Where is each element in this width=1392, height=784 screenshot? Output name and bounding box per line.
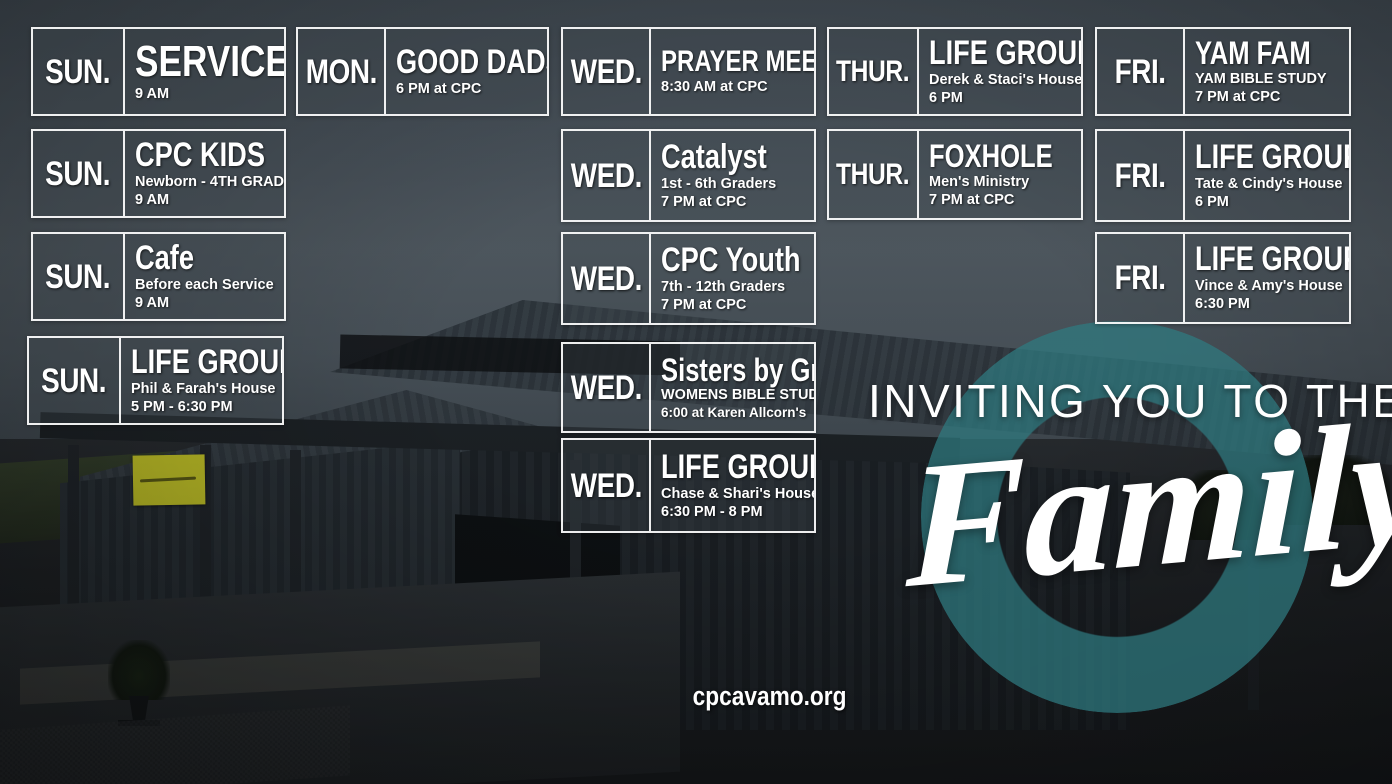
card-day-text: SUN. bbox=[42, 364, 107, 398]
card-detail-line: Phil & Farah's House bbox=[131, 380, 282, 398]
card-day-label: SUN. bbox=[33, 29, 125, 114]
card-body: GOOD DADS6 PM at CPC bbox=[386, 29, 547, 114]
website-url[interactable]: cpcavamo.org bbox=[0, 681, 1392, 712]
card-day-label: WED. bbox=[563, 234, 651, 323]
card-body: LIFE GROUPPhil & Farah's House5 PM - 6:3… bbox=[121, 338, 282, 423]
card-detail-line: 7 PM at CPC bbox=[661, 296, 814, 314]
promo-script-word: Family bbox=[904, 398, 1347, 703]
schedule-card[interactable]: SUN.SERVICE9 AM bbox=[31, 27, 286, 116]
website-url-text: cpcavamo.org bbox=[693, 681, 847, 712]
schedule-card[interactable]: SUN.LIFE GROUPPhil & Farah's House5 PM -… bbox=[27, 336, 284, 425]
card-day-text: SUN. bbox=[46, 260, 111, 294]
card-body: PRAYER MEETING8:30 AM at CPC bbox=[651, 29, 814, 114]
card-title: LIFE GROUP bbox=[1195, 242, 1318, 277]
card-day-label: FRI. bbox=[1097, 29, 1185, 114]
card-title: SERVICE bbox=[135, 40, 254, 85]
card-day-text: THUR. bbox=[836, 160, 909, 190]
card-body: CPC Youth7th - 12th Graders7 PM at CPC bbox=[651, 234, 814, 323]
card-day-label: SUN. bbox=[29, 338, 121, 423]
card-day-label: WED. bbox=[563, 344, 651, 431]
card-detail-line: Newborn - 4TH GRADE bbox=[135, 173, 284, 191]
card-detail-line: 6:30 PM - 8 PM bbox=[661, 503, 814, 521]
card-day-text: SUN. bbox=[46, 55, 111, 89]
card-body: LIFE GROUPDerek & Staci's House6 PM bbox=[919, 29, 1081, 114]
card-detail-line: 9 AM bbox=[135, 85, 284, 103]
card-detail-line: 8:30 AM at CPC bbox=[661, 78, 814, 96]
schedule-card[interactable]: WED.Sisters by GraceWOMENS BIBLE STUDY6:… bbox=[561, 342, 816, 433]
card-day-label: FRI. bbox=[1097, 131, 1185, 220]
card-detail-line: Tate & Cindy's House bbox=[1195, 175, 1349, 193]
card-detail-line: 6 PM bbox=[929, 89, 1081, 107]
card-body: CPC KIDSNewborn - 4TH GRADE9 AM bbox=[125, 131, 284, 216]
card-title: Catalyst bbox=[661, 140, 783, 175]
card-body: YAM FAMYAM BIBLE STUDY7 PM at CPC bbox=[1185, 29, 1349, 114]
card-day-label: WED. bbox=[563, 29, 651, 114]
card-detail-line: WOMENS BIBLE STUDY bbox=[661, 386, 814, 404]
schedule-card[interactable]: WED.PRAYER MEETING8:30 AM at CPC bbox=[561, 27, 816, 116]
card-detail-line: Before each Service bbox=[135, 276, 284, 294]
card-body: LIFE GROUPVince & Amy's House6:30 PM bbox=[1185, 234, 1349, 322]
card-day-label: SUN. bbox=[33, 131, 125, 216]
schedule-card[interactable]: MON.GOOD DADS6 PM at CPC bbox=[296, 27, 549, 116]
card-body: Sisters by GraceWOMENS BIBLE STUDY6:00 a… bbox=[651, 344, 814, 431]
card-detail-line: 5 PM - 6:30 PM bbox=[131, 398, 282, 416]
card-day-text: FRI. bbox=[1114, 55, 1165, 89]
card-detail-line: 7th - 12th Graders bbox=[661, 278, 814, 296]
card-title: PRAYER MEETING bbox=[661, 47, 783, 78]
card-detail-line: 6 PM at CPC bbox=[396, 80, 547, 98]
card-body: LIFE GROUPTate & Cindy's House6 PM bbox=[1185, 131, 1349, 220]
card-detail-line: Derek & Staci's House bbox=[929, 71, 1081, 89]
card-detail-line: Chase & Shari's House bbox=[661, 485, 814, 503]
schedule-card[interactable]: FRI.LIFE GROUPTate & Cindy's House6 PM bbox=[1095, 129, 1351, 222]
schedule-card[interactable]: SUN.CafeBefore each Service9 AM bbox=[31, 232, 286, 321]
card-title: LIFE GROUP bbox=[929, 36, 1051, 71]
card-day-label: THUR. bbox=[829, 29, 919, 114]
schedule-card[interactable]: FRI.YAM FAMYAM BIBLE STUDY7 PM at CPC bbox=[1095, 27, 1351, 116]
card-day-text: SUN. bbox=[46, 157, 111, 191]
card-body: LIFE GROUPChase & Shari's House6:30 PM -… bbox=[651, 440, 814, 531]
card-title: LIFE GROUP bbox=[131, 345, 252, 380]
card-detail-line: 6:00 at Karen Allcorn's bbox=[661, 404, 814, 421]
card-day-text: WED. bbox=[570, 469, 641, 503]
card-body: CafeBefore each Service9 AM bbox=[125, 234, 284, 319]
schedule-card[interactable]: THUR.FOXHOLEMen's Ministry7 PM at CPC bbox=[827, 129, 1083, 220]
card-day-text: FRI. bbox=[1114, 261, 1165, 295]
card-day-label: SUN. bbox=[33, 234, 125, 319]
card-day-text: MON. bbox=[305, 55, 376, 89]
card-detail-line: Men's Ministry bbox=[929, 173, 1081, 191]
schedule-card[interactable]: SUN.CPC KIDSNewborn - 4TH GRADE9 AM bbox=[31, 129, 286, 218]
card-title: LIFE GROUP bbox=[661, 450, 783, 485]
card-day-text: WED. bbox=[570, 371, 641, 405]
card-day-text: WED. bbox=[570, 55, 641, 89]
card-detail-line: 1st - 6th Graders bbox=[661, 175, 814, 193]
schedule-card[interactable]: FRI.LIFE GROUPVince & Amy's House6:30 PM bbox=[1095, 232, 1351, 324]
card-detail-line: 6 PM bbox=[1195, 193, 1349, 211]
card-detail-line: 9 AM bbox=[135, 294, 284, 312]
card-detail-line: YAM BIBLE STUDY bbox=[1195, 70, 1349, 88]
card-title: FOXHOLE bbox=[929, 140, 1051, 173]
card-title: CPC KIDS bbox=[135, 138, 254, 173]
card-title: Sisters by Grace bbox=[661, 354, 783, 387]
card-day-label: WED. bbox=[563, 440, 651, 531]
card-title: CPC Youth bbox=[661, 243, 783, 278]
card-day-label: WED. bbox=[563, 131, 651, 220]
card-body: FOXHOLEMen's Ministry7 PM at CPC bbox=[919, 131, 1081, 218]
card-body: SERVICE9 AM bbox=[125, 29, 284, 114]
card-day-label: THUR. bbox=[829, 131, 919, 218]
card-day-text: WED. bbox=[570, 262, 641, 296]
schedule-card[interactable]: THUR.LIFE GROUPDerek & Staci's House6 PM bbox=[827, 27, 1083, 116]
card-detail-line: 7 PM at CPC bbox=[929, 191, 1081, 209]
card-title: LIFE GROUP bbox=[1195, 140, 1318, 175]
card-detail-line: 9 AM bbox=[135, 191, 284, 209]
card-detail-line: 6:30 PM bbox=[1195, 295, 1349, 313]
schedule-card[interactable]: WED.LIFE GROUPChase & Shari's House6:30 … bbox=[561, 438, 816, 533]
card-detail-line: Vince & Amy's House bbox=[1195, 277, 1349, 295]
card-body: Catalyst1st - 6th Graders7 PM at CPC bbox=[651, 131, 814, 220]
card-day-text: WED. bbox=[570, 159, 641, 193]
card-day-label: FRI. bbox=[1097, 234, 1185, 322]
card-day-label: MON. bbox=[298, 29, 386, 114]
card-detail-line: 7 PM at CPC bbox=[661, 193, 814, 211]
card-day-text: THUR. bbox=[836, 57, 909, 87]
card-title: Cafe bbox=[135, 241, 254, 276]
schedule-card[interactable]: WED.Catalyst1st - 6th Graders7 PM at CPC bbox=[561, 129, 816, 222]
card-title: YAM FAM bbox=[1195, 37, 1318, 70]
schedule-card[interactable]: WED.CPC Youth7th - 12th Graders7 PM at C… bbox=[561, 232, 816, 325]
card-day-text: FRI. bbox=[1114, 159, 1165, 193]
card-detail-line: 7 PM at CPC bbox=[1195, 88, 1349, 106]
card-title: GOOD DADS bbox=[396, 45, 517, 80]
